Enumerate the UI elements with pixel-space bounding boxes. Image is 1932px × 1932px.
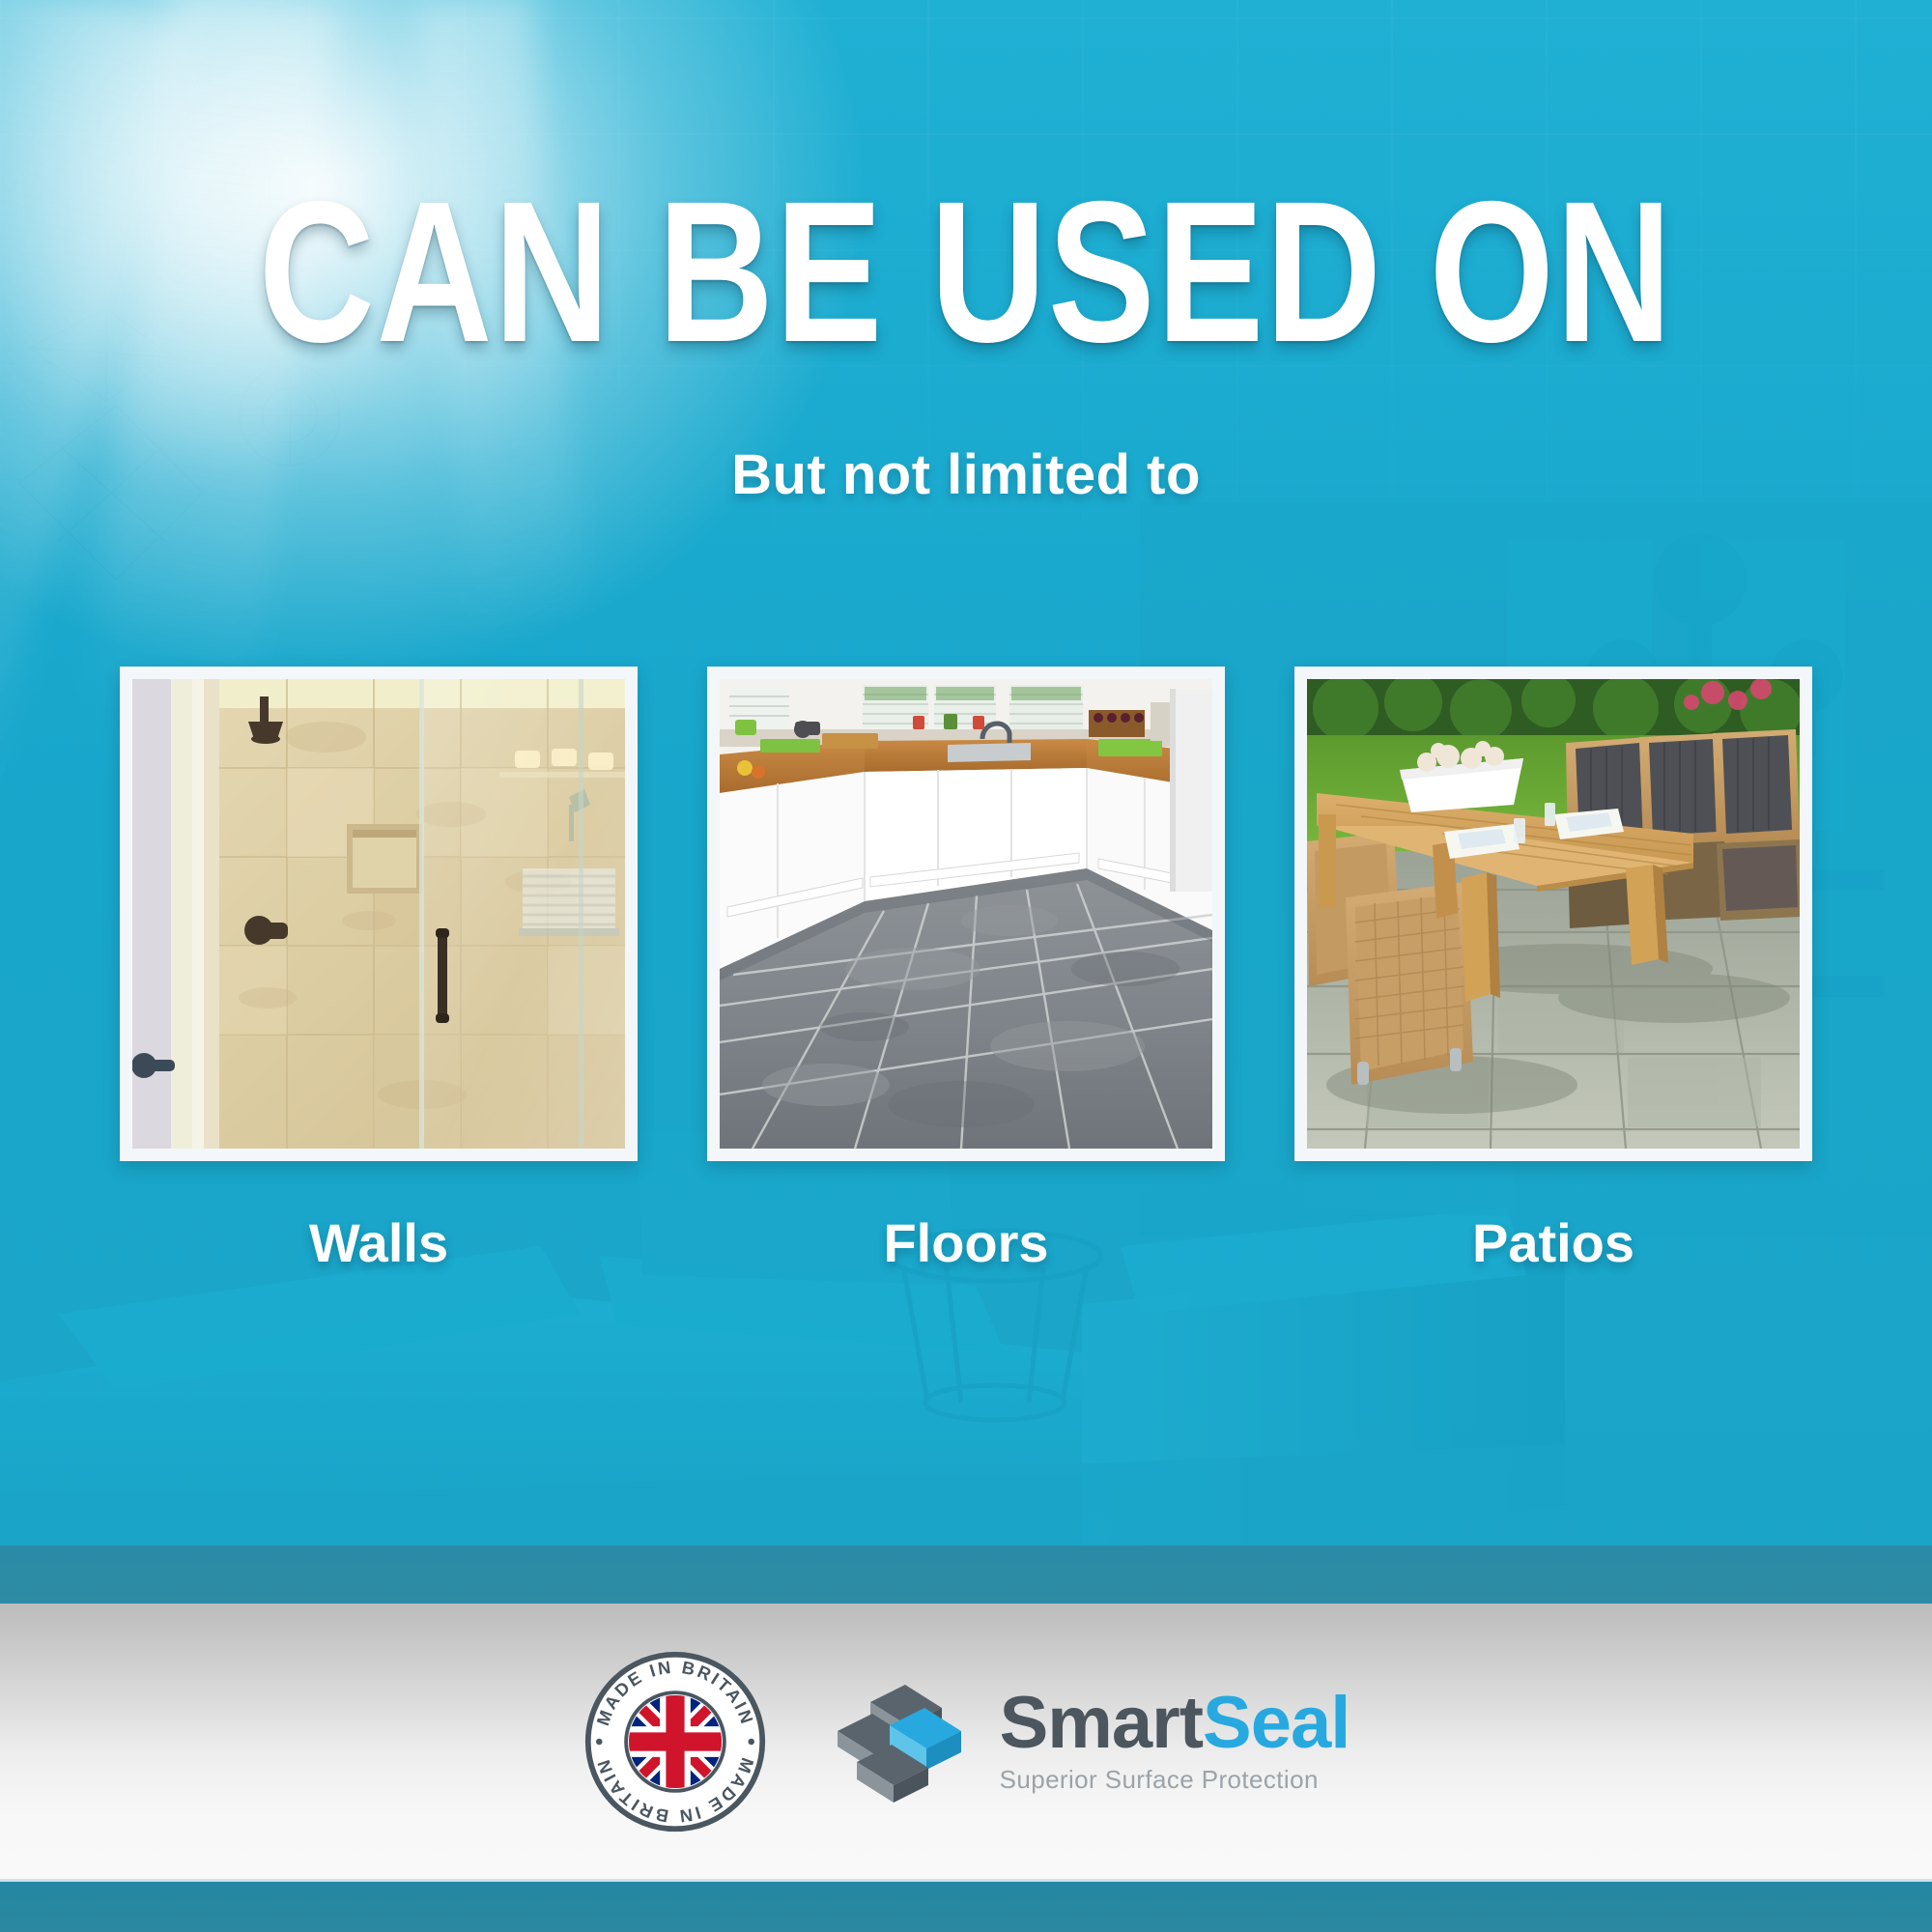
made-in-britain-badge: MADE IN BRITAIN MADE IN BRITAIN <box>582 1649 768 1834</box>
kitchen-tile-floor-photo <box>720 679 1212 1149</box>
footer-bar: MADE IN BRITAIN MADE IN BRITAIN <box>0 1604 1932 1879</box>
photo-frame <box>707 667 1225 1161</box>
card-caption: Patios <box>1294 1211 1812 1274</box>
bottom-band <box>0 1879 1932 1932</box>
surface-card-list: Walls <box>0 667 1932 1274</box>
photo-frame <box>1294 667 1812 1161</box>
surface-card-walls: Walls <box>120 667 638 1274</box>
page-subtitle: But not limited to <box>0 442 1932 507</box>
logo-word-smart: Smart <box>1000 1682 1203 1764</box>
logo-tagline: Superior Surface Protection <box>1000 1765 1350 1795</box>
surface-card-patios: Patios <box>1294 667 1812 1274</box>
footer-divider-band <box>0 1546 1932 1604</box>
logo-word-seal: Seal <box>1203 1682 1350 1764</box>
logo-word: SmartSeal <box>1000 1688 1350 1759</box>
smartseal-wordmark: SmartSeal Superior Surface Protection <box>1000 1688 1350 1795</box>
surface-card-floors: Floors <box>707 667 1225 1274</box>
smartseal-logo: SmartSeal Superior Surface Protection <box>830 1669 1350 1814</box>
card-caption: Walls <box>120 1211 638 1274</box>
page-title: CAN BE USED ON <box>193 172 1739 373</box>
card-caption: Floors <box>707 1211 1225 1274</box>
photo-frame <box>120 667 638 1161</box>
poster-canvas: CAN BE USED ON But not limited to <box>0 0 1932 1932</box>
smartseal-blocks-icon <box>830 1669 975 1814</box>
tiled-shower-walls-photo <box>132 679 625 1149</box>
garden-patio-photo <box>1307 679 1800 1149</box>
